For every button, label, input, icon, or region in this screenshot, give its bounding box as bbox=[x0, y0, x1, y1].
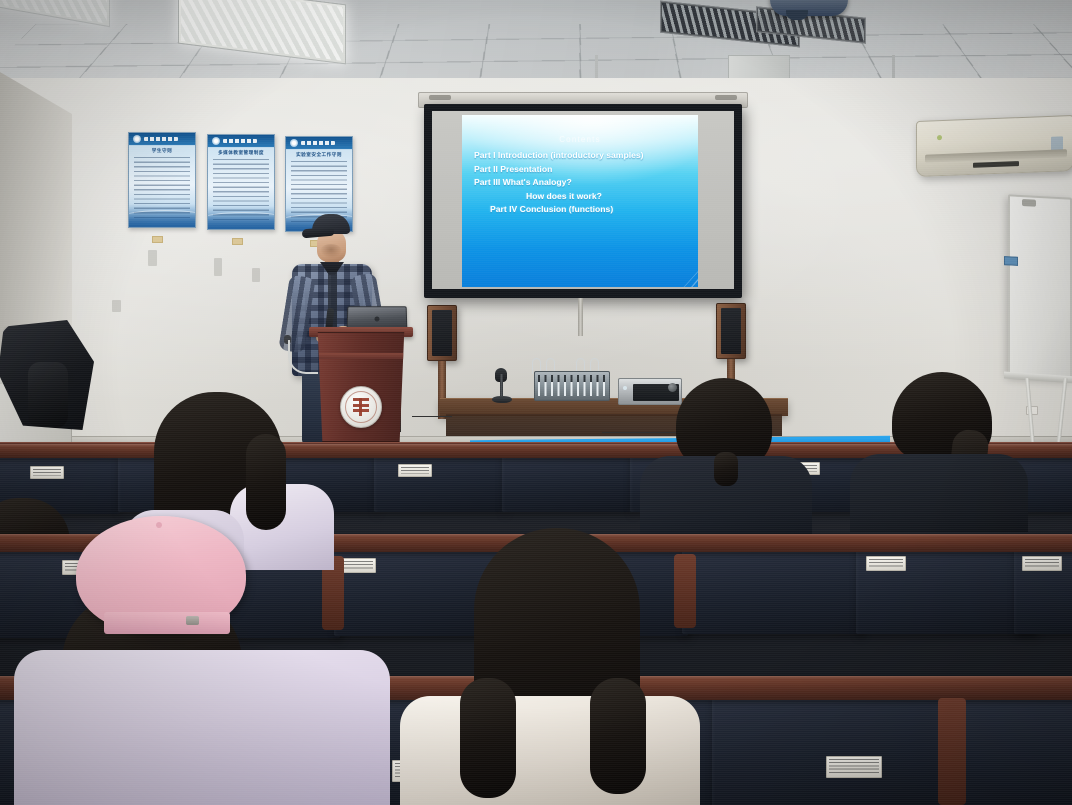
podium-university-seal bbox=[340, 386, 382, 428]
cap-adjuster-strap bbox=[104, 612, 230, 634]
poster-seal-icon bbox=[212, 137, 220, 145]
projection-screen: Contents Part I Introduction (introducto… bbox=[424, 104, 742, 298]
slide-line-3: Part III What's Analogy? bbox=[474, 176, 690, 190]
seat-number-plate bbox=[1022, 556, 1062, 571]
audio-mixer[interactable] bbox=[534, 371, 610, 401]
presentation-slide: Contents Part I Introduction (introducto… bbox=[462, 115, 698, 287]
coat-fold bbox=[28, 362, 68, 428]
mixer-knobs[interactable] bbox=[538, 375, 608, 382]
slide-heading: Contents bbox=[462, 135, 698, 144]
poster-header bbox=[129, 133, 195, 145]
cap-buckle-icon bbox=[186, 616, 199, 625]
wall-poster-center: 多媒体教室管理制度 bbox=[207, 134, 275, 230]
poster-wave-graphic bbox=[208, 206, 274, 229]
student-pink-cap bbox=[18, 500, 398, 805]
poster-logo-text bbox=[301, 141, 335, 145]
hair-strand bbox=[714, 452, 738, 486]
poster-header bbox=[286, 137, 352, 149]
seat-number-plate bbox=[866, 556, 906, 571]
ceiling-projector bbox=[770, 0, 848, 16]
slide-body: Part I Introduction (introductory sample… bbox=[474, 149, 690, 217]
podium-trim-band bbox=[319, 353, 405, 359]
ac-air-vent bbox=[925, 149, 1067, 162]
seat-back[interactable] bbox=[712, 684, 962, 805]
poster-logo-text bbox=[223, 139, 257, 143]
wall-poster-left: 学生守则 bbox=[128, 132, 196, 228]
screen-surface: Contents Part I Introduction (introducto… bbox=[432, 111, 734, 289]
poster-seal-icon bbox=[290, 139, 298, 147]
seat-back[interactable] bbox=[502, 450, 632, 512]
whiteboard-easel[interactable] bbox=[1008, 194, 1072, 379]
poster-wave-graphic bbox=[129, 204, 195, 227]
poster-logo-text bbox=[144, 137, 178, 141]
desk-microphone-base bbox=[492, 396, 512, 403]
seat-number-plate bbox=[826, 756, 882, 778]
slide-line-2: Part II Presentation bbox=[474, 163, 690, 177]
av-cable bbox=[412, 416, 452, 417]
poster-header bbox=[208, 135, 274, 147]
student-center-front bbox=[400, 528, 700, 805]
jacket bbox=[14, 650, 390, 805]
air-conditioner bbox=[916, 115, 1072, 177]
whiteboard-label-tag bbox=[1004, 256, 1018, 266]
cap-button-icon bbox=[156, 522, 162, 528]
whiteboard-clip-icon bbox=[1022, 199, 1036, 207]
seat-number-plate bbox=[30, 466, 64, 479]
loudspeaker-left bbox=[427, 305, 457, 361]
wall-scuff bbox=[214, 258, 222, 276]
student-ponytail-right bbox=[846, 372, 1028, 532]
seat-armrest bbox=[938, 698, 966, 805]
presenter-face bbox=[320, 244, 342, 258]
ac-display-panel bbox=[973, 161, 1019, 168]
hair-over-shoulder bbox=[460, 678, 516, 798]
student-hooded-center bbox=[640, 378, 812, 528]
slide-line-5: Part IV Conclusion (functions) bbox=[474, 203, 690, 217]
poster-title: 多媒体教室管理制度 bbox=[208, 150, 274, 156]
wall-scuff bbox=[252, 268, 260, 282]
jacket bbox=[850, 454, 1028, 532]
poster-seal-icon bbox=[133, 135, 141, 143]
poster-tape bbox=[152, 236, 163, 243]
podium-gooseneck-arm bbox=[288, 340, 318, 374]
podium-seal-emblem-icon bbox=[353, 398, 369, 416]
amp-power-led-icon bbox=[623, 386, 627, 390]
jacket bbox=[400, 696, 700, 805]
hair-over-shoulder bbox=[590, 678, 646, 794]
wall-scuff bbox=[148, 250, 157, 266]
laptop-logo-icon bbox=[374, 317, 379, 322]
poster-title: 实验室安全工作守则 bbox=[286, 152, 352, 158]
ac-power-led-icon bbox=[937, 135, 942, 140]
seat-back[interactable] bbox=[682, 542, 862, 634]
loudspeaker-right bbox=[716, 303, 746, 359]
poster-tape bbox=[232, 238, 243, 245]
mixer-faders[interactable] bbox=[538, 382, 608, 396]
desk-microphone-stem bbox=[500, 374, 503, 398]
lecture-hall-scene: 学生守则 多媒体教室管理制度 实验室安全工作守则 bbox=[0, 0, 1072, 805]
wall-scuff bbox=[112, 300, 121, 312]
slide-line-4: How does it work? bbox=[474, 190, 690, 204]
screen-support-pole bbox=[578, 298, 583, 336]
poster-title: 学生守则 bbox=[129, 148, 195, 154]
seat-back[interactable] bbox=[956, 684, 1072, 805]
slide-line-1: Part I Introduction (introductory sample… bbox=[474, 149, 690, 163]
seat-number-plate bbox=[398, 464, 432, 477]
